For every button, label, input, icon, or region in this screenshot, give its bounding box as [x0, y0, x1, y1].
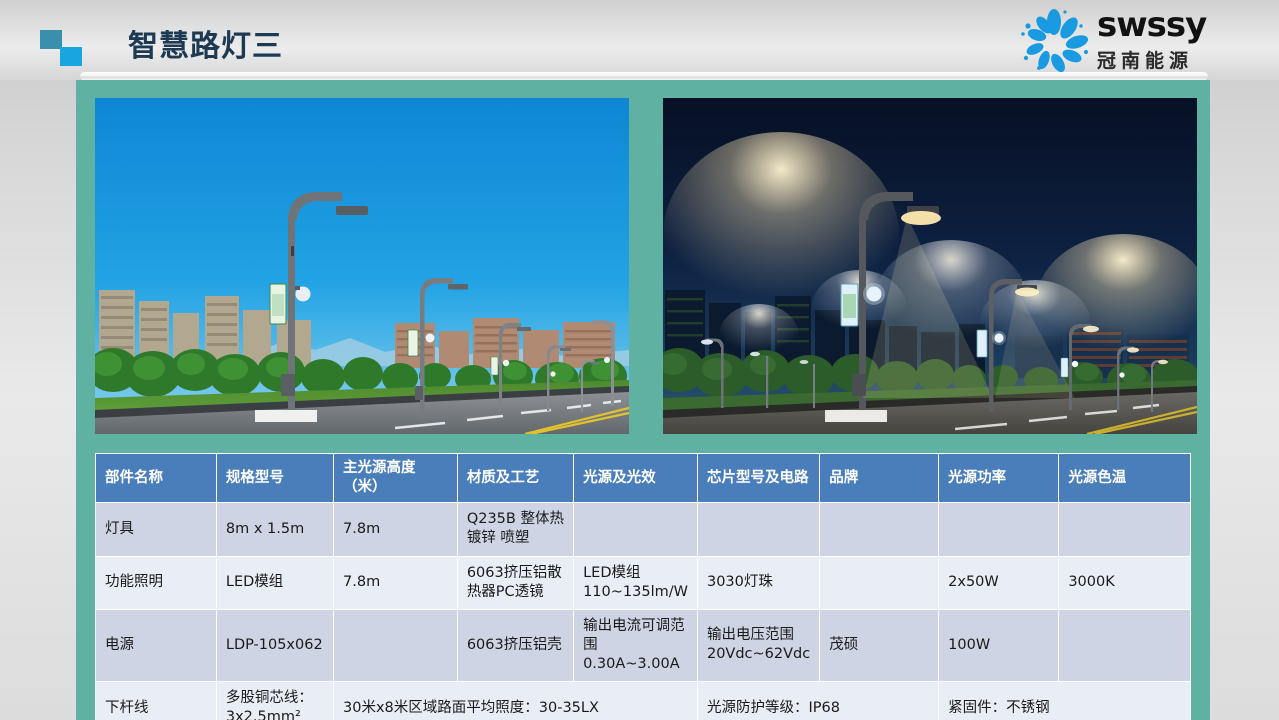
cell-cct [1059, 609, 1191, 681]
cell-part-name: 下杆线 [96, 682, 217, 720]
col-header-brand: 品牌 [820, 454, 939, 503]
col-header-cct: 光源色温 [1059, 454, 1191, 503]
swssy-splash-logo-icon [1017, 8, 1091, 72]
logo-wordmark: swssy [1097, 8, 1206, 42]
table-row: 功能照明 LED模组 7.8m 6063挤压铝散热器PC透镜 LED模组 110… [96, 556, 1191, 609]
cell-height [334, 609, 458, 681]
cell-part-name: 灯具 [96, 503, 217, 556]
cell-material: 6063挤压铝散热器PC透镜 [457, 556, 573, 609]
cell-light-source [574, 503, 698, 556]
cell-model: 8m x 1.5m [216, 503, 333, 556]
col-header-power: 光源功率 [939, 454, 1059, 503]
photo-daytime-street-lights [95, 98, 629, 434]
cell-illuminance: 30米x8米区域路面平均照度：30-35LX [334, 682, 698, 720]
cell-cct [1059, 503, 1191, 556]
cell-height: 7.8m [334, 503, 458, 556]
decor-square-light-icon [60, 47, 82, 66]
cell-material: Q235B 整体热镀锌 喷塑 [457, 503, 573, 556]
header-decor-squares [40, 30, 90, 66]
cell-chip [697, 503, 819, 556]
col-header-part-name: 部件名称 [96, 454, 217, 503]
page-title: 智慧路灯三 [128, 21, 283, 65]
logo-chinese-name: 冠南能源 [1097, 46, 1206, 73]
cell-ip-rating: 光源防护等级：IP68 [697, 682, 938, 720]
cell-light-source: LED模组 110~135lm/W [574, 556, 698, 609]
photo-nighttime-street-lights [663, 98, 1197, 434]
company-logo: swssy 冠南能源 [1017, 6, 1265, 74]
table-row: 下杆线 多股铜芯线：3x2.5mm² 30米x8米区域路面平均照度：30-35L… [96, 682, 1191, 720]
col-header-chip: 芯片型号及电路 [697, 454, 819, 503]
cell-part-name: 电源 [96, 609, 217, 681]
col-header-light-source: 光源及光效 [574, 454, 698, 503]
page-header: 智慧路灯三 swssy [0, 0, 1279, 80]
cell-part-name: 功能照明 [96, 556, 217, 609]
decor-square-dark-icon [40, 30, 62, 49]
cell-chip: 3030灯珠 [697, 556, 819, 609]
col-header-height: 主光源高度（米） [334, 454, 458, 503]
cell-cct: 3000K [1059, 556, 1191, 609]
table-row: 灯具 8m x 1.5m 7.8m Q235B 整体热镀锌 喷塑 [96, 503, 1191, 556]
cell-light-source: 输出电流可调范围0.30A~3.00A [574, 609, 698, 681]
cell-brand [820, 503, 939, 556]
cell-brand [820, 556, 939, 609]
table-header-row: 部件名称 规格型号 主光源高度（米） 材质及工艺 光源及光效 芯片型号及电路 品… [96, 454, 1191, 503]
col-header-material: 材质及工艺 [457, 454, 573, 503]
cell-height: 7.8m [334, 556, 458, 609]
cell-power: 2x50W [939, 556, 1059, 609]
cell-power: 100W [939, 609, 1059, 681]
content-panel: 部件名称 规格型号 主光源高度（米） 材质及工艺 光源及光效 芯片型号及电路 品… [76, 80, 1210, 720]
cell-wire-spec: 多股铜芯线：3x2.5mm² [216, 682, 333, 720]
logo-text-block: swssy 冠南能源 [1097, 8, 1206, 73]
specification-table: 部件名称 规格型号 主光源高度（米） 材质及工艺 光源及光效 芯片型号及电路 品… [95, 453, 1191, 720]
col-header-model: 规格型号 [216, 454, 333, 503]
cell-chip: 输出电压范围20Vdc~62Vdc [697, 609, 819, 681]
cell-model: LED模组 [216, 556, 333, 609]
cell-power [939, 503, 1059, 556]
table-header: 部件名称 规格型号 主光源高度（米） 材质及工艺 光源及光效 芯片型号及电路 品… [96, 454, 1191, 503]
table-body: 灯具 8m x 1.5m 7.8m Q235B 整体热镀锌 喷塑 功能照明 LE… [96, 503, 1191, 720]
cell-brand: 茂硕 [820, 609, 939, 681]
table-row: 电源 LDP-105x062 6063挤压铝壳 输出电流可调范围0.30A~3.… [96, 609, 1191, 681]
cell-material: 6063挤压铝壳 [457, 609, 573, 681]
cell-fastener: 紧固件：不锈钢 [939, 682, 1191, 720]
cell-model: LDP-105x062 [216, 609, 333, 681]
